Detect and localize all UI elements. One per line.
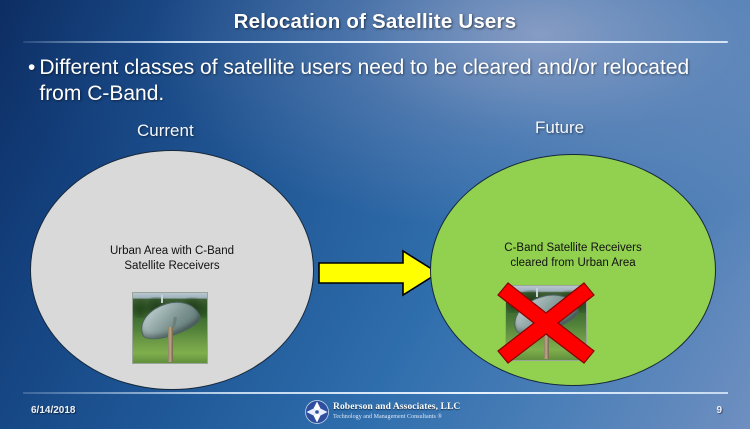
current-ellipse-label: Urban Area with C-Band Satellite Receive… — [31, 244, 313, 274]
future-label-line-1: C-Band Satellite Receivers — [431, 241, 715, 256]
company-name: Roberson and Associates, LLC — [333, 402, 460, 413]
roberson-diamond-logo-icon — [305, 400, 329, 424]
footer-page-number: 9 — [716, 405, 722, 416]
footer-divider — [23, 392, 728, 394]
bullet-item-text: Different classes of satellite users nee… — [39, 55, 728, 107]
satellite-dish-photo-current — [132, 292, 208, 364]
footer-date: 6/14/2018 — [31, 405, 76, 416]
page-title: Relocation of Satellite Users — [234, 10, 517, 33]
transition-arrow-icon — [318, 249, 440, 297]
bullet-list: • Different classes of satellite users n… — [28, 55, 728, 107]
dish-support-pole-decor — [544, 322, 549, 359]
slide-title-bar: Relocation of Satellite Users — [0, 10, 750, 34]
company-tagline: Technology and Management Consultants ® — [333, 413, 460, 422]
future-column-caption: Future — [535, 118, 584, 138]
current-column-caption: Current — [137, 121, 194, 141]
tower-mast-decor — [536, 288, 538, 297]
slide-canvas: Relocation of Satellite Users • Differen… — [0, 0, 750, 429]
satellite-dish-photo-future — [505, 285, 587, 361]
company-logo: Roberson and Associates, LLC Technology … — [305, 400, 460, 424]
bullet-marker-icon: • — [28, 55, 35, 81]
logo-text-block: Roberson and Associates, LLC Technology … — [333, 402, 460, 422]
future-label-line-2: cleared from Urban Area — [431, 256, 715, 271]
current-label-line-2: Satellite Receivers — [31, 259, 313, 274]
dish-support-pole-decor — [168, 327, 173, 362]
title-divider — [23, 41, 728, 43]
current-label-line-1: Urban Area with C-Band — [31, 244, 313, 259]
tower-mast-decor — [161, 295, 163, 303]
future-ellipse-label: C-Band Satellite Receivers cleared from … — [431, 241, 715, 271]
